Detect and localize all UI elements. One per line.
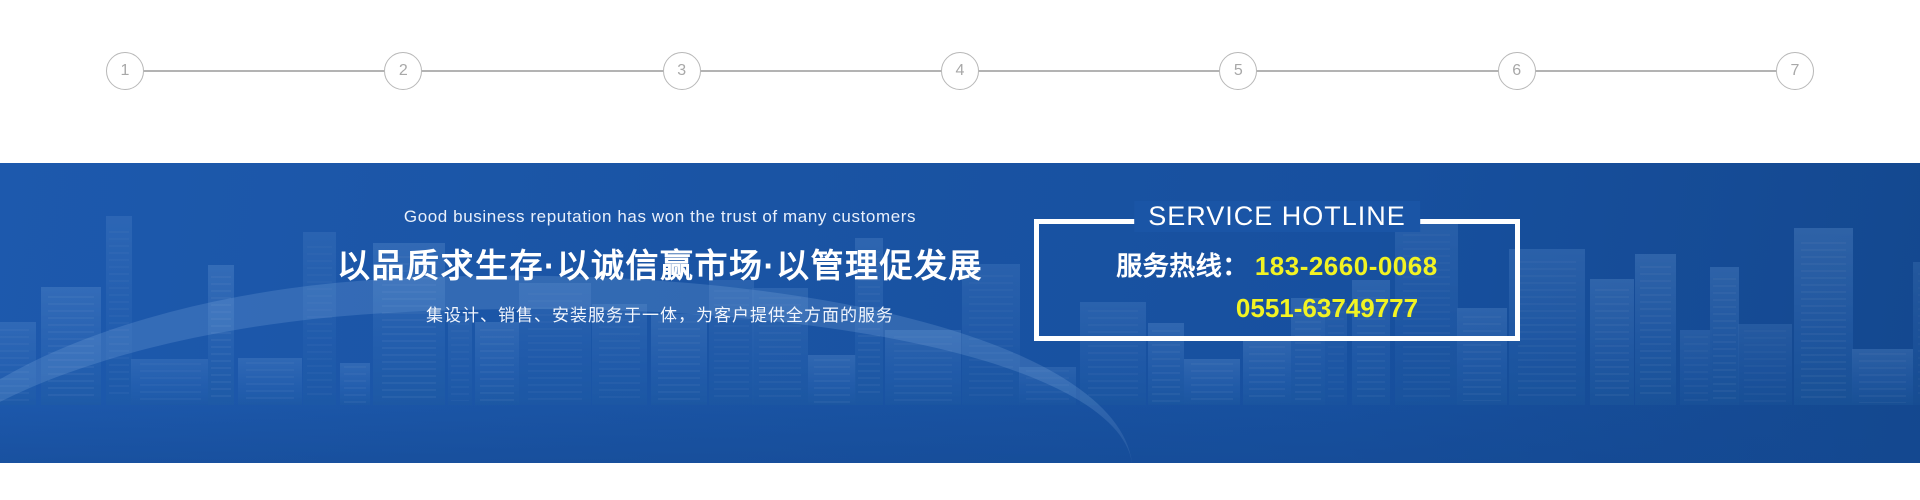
page-number-5[interactable]: 5 [1219,52,1257,90]
hotline-label: 服务热线： [1116,251,1249,281]
page-number-6[interactable]: 6 [1498,52,1536,90]
slogan-english: Good business reputation has won the tru… [300,207,1020,227]
pagination-strip: 1 2 3 4 5 6 7 [0,0,1920,163]
page-number-2[interactable]: 2 [384,52,422,90]
page-number-1[interactable]: 1 [106,52,144,90]
slogan-chinese-main: 以品质求生存·以诚信赢市场·以管理促发展 [300,239,1020,287]
service-hotline-caption: SERVICE HOTLINE [1134,201,1420,232]
slogan-chinese-sub: 集设计、销售、安装服务于一体，为客户提供全方面的服务 [300,301,1020,326]
page-number-7[interactable]: 7 [1776,52,1814,90]
hotline-numbers: 服务热线：183-2660-0068 0551-63749777 [1039,246,1515,324]
banner-ground-shade [0,397,1920,463]
page-number-label: 5 [1234,63,1243,79]
pagination: 1 2 3 4 5 6 7 [106,52,1814,90]
slogan-block: Good business reputation has won the tru… [300,207,1020,326]
hotline-primary-row: 服务热线：183-2660-0068 [1039,246,1515,283]
page-root: 1 2 3 4 5 6 7 Good business reputation h… [0,0,1920,500]
page-number-label: 3 [677,63,686,79]
page-number-label: 6 [1512,63,1521,79]
hotline-phone-primary[interactable]: 183-2660-0068 [1255,251,1438,281]
page-number-3[interactable]: 3 [663,52,701,90]
page-number-label: 2 [399,63,408,79]
page-number-label: 4 [956,63,965,79]
page-number-label: 1 [121,63,130,79]
bottom-white-strip [0,463,1920,500]
promo-banner: Good business reputation has won the tru… [0,163,1920,463]
page-number-label: 7 [1791,63,1800,79]
hotline-phone-secondary[interactable]: 0551-63749777 [1039,293,1515,324]
service-hotline-box: SERVICE HOTLINE 服务热线：183-2660-0068 0551-… [1034,219,1520,341]
page-number-4[interactable]: 4 [941,52,979,90]
